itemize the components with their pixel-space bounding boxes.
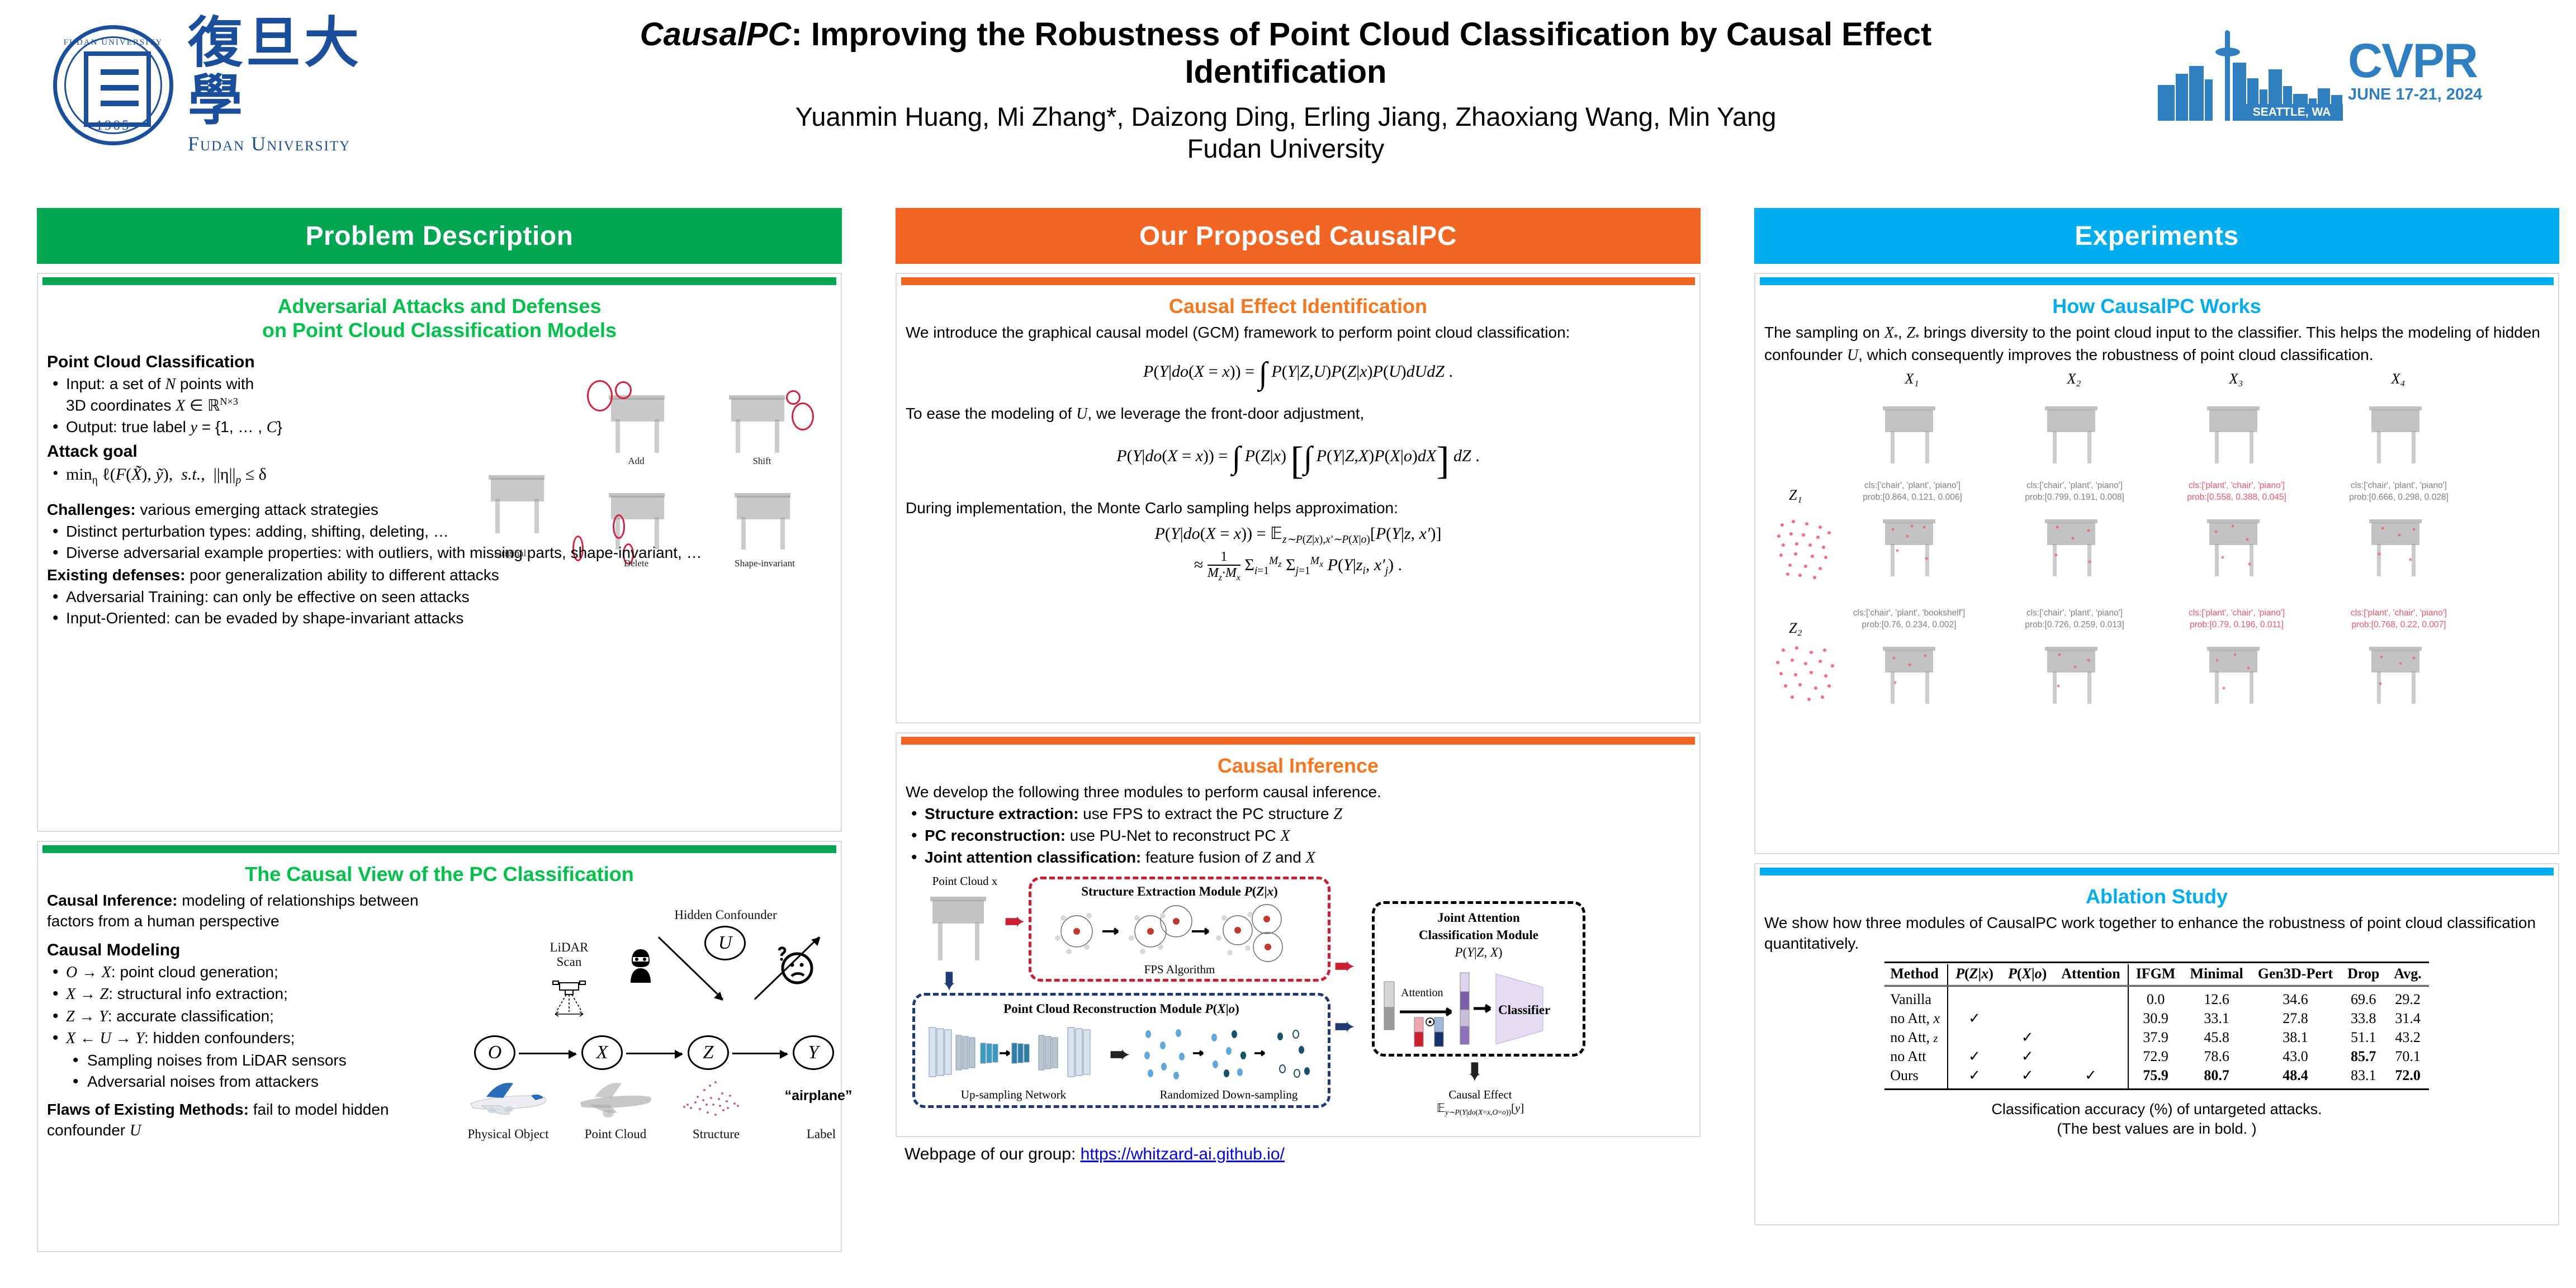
input-point-cloud-icon [917, 889, 1001, 967]
list-item: Z → Y: accurate classification; [47, 1006, 454, 1027]
group-webpage[interactable]: Webpage of our group: https://whitzard-a… [896, 1137, 1701, 1164]
graph-label-lidar-scan: LiDARScan [527, 940, 611, 969]
equation-3a: P(Y|do(X = x)) = 𝔼z∼P(Z|x),x′∼P(X|o)[P(Y… [897, 524, 1699, 546]
cei-paragraph-2: To ease the modeling of U, we leverage t… [897, 404, 1699, 424]
table-row: no Att, x ✓ 30.9 33.1 27.8 33.8 31.4 [1884, 1009, 2429, 1028]
cell-drop: 51.1 [2340, 1028, 2386, 1047]
highlight-ellipse [615, 381, 632, 399]
arrow-upsample-to-downsample: ➨ [1109, 1041, 1131, 1067]
table-row: Ours ✓ ✓ ✓ 75.9 80.7 48.4 83.1 72.0 [1884, 1066, 2429, 1090]
banner-problem-description: Problem Description [37, 208, 842, 264]
grid-pointcloud-r2c3 [2197, 510, 2275, 583]
cell-minimal: 12.6 [2182, 986, 2250, 1010]
grid-col-head-x2: X₂ [2040, 371, 2108, 387]
ablation-table: Method P(Z|x) P(X|o) Attention IFGM Mini… [1884, 962, 2429, 1092]
upsampling-network-label: Up-sampling Network [932, 1088, 1095, 1102]
airplane-structure-icon [671, 1071, 755, 1125]
cell-avg: 43.2 [2386, 1028, 2428, 1047]
prob-line: prob:[0.76, 0.234, 0.002] [1862, 620, 1957, 629]
fudan-seal-icon: FUDAN UNIVERSITY 1905 [53, 25, 173, 145]
panel-title-causal-view: The Causal View of the PC Classification [38, 853, 841, 891]
list-item: minη ℓ(F(X̃), ỹ), s.t., ||η||p ≤ δ [47, 463, 471, 487]
arrow-input-to-reconstruction: ➨ [937, 970, 963, 992]
table-row: no Att ✓ ✓ 72.9 78.6 43.0 85.7 70.1 [1884, 1047, 2429, 1066]
table-caption-line2: (The best values are in bold. ) [1755, 1119, 2558, 1139]
cell-attention [2054, 1047, 2128, 1066]
ci-module-list: Structure extraction: use FPS to extract… [906, 804, 1690, 869]
seal-year: 1905 [57, 118, 169, 134]
causal-inference-label: Causal Inference: [47, 892, 177, 909]
cell-attention [2054, 986, 2128, 1010]
causal-inference-para: Causal Inference: modeling of relationsh… [47, 891, 454, 931]
svg-text:Classifier: Classifier [1498, 1003, 1550, 1017]
grid-pointcloud-r3c2 [2035, 638, 2113, 711]
cell-method: Ours [1884, 1066, 1948, 1090]
list-item: Joint attention classification: feature … [906, 847, 1690, 868]
table-caption: Classification accuracy (%) of untargete… [1755, 1100, 2558, 1139]
panel-how-causalpc-works: How CausalPC Works The sampling on X*, Z… [1754, 273, 2559, 854]
graph-node-U: U [704, 926, 746, 960]
highlight-ellipse [587, 380, 613, 411]
jam-title-line1: Joint Attention [1437, 911, 1520, 925]
affiliation: Fudan University [587, 132, 1985, 165]
cls-line: cls:['plant', 'chair', 'piano'] [2189, 608, 2285, 618]
challenges-rest: various emerging attack strategies [136, 501, 378, 518]
prob-line: prob:[0.864, 0.121, 0.006] [1863, 493, 1962, 502]
ci-b2-label: PC reconstruction: [925, 827, 1066, 844]
col-head-minimal: Minimal [2182, 964, 2250, 986]
pcc-bullets: Input: a set of N points with3D coordina… [47, 374, 471, 438]
arrow-structure-to-classifier: ➨ [1334, 953, 1356, 978]
list-item: Sampling noises from LiDAR sensors [47, 1050, 454, 1071]
lidar-icon [550, 979, 589, 1024]
attacker-icon [625, 947, 656, 984]
figure-label-add: Add [591, 456, 681, 467]
col-head-pzx: P(Z|x) [1948, 964, 2001, 986]
cell-drop: 69.6 [2340, 986, 2386, 1010]
panel-rule [1760, 277, 2554, 285]
list-item: O → X: point cloud generation; [47, 962, 454, 983]
cell-gen3dpert: 38.1 [2251, 1028, 2340, 1047]
fudan-name-cn: 復旦大學 [188, 15, 400, 130]
cell-method: Vanilla [1884, 986, 1948, 1010]
grid-cell-r1c4-text: cls:['chair', 'plant', 'piano'] prob:[0.… [2329, 480, 2469, 504]
existing-defenses-rest: poor generalization ability to different… [185, 566, 499, 584]
existing-defenses-label: Existing defenses: [47, 566, 185, 584]
list-item: Adversarial Training: can only be effect… [47, 587, 832, 607]
cell-pxo: ✓ [2001, 1047, 2054, 1066]
randomized-downsampling-icon [1139, 1024, 1318, 1085]
graph-caption-structure: Structure [669, 1127, 764, 1142]
list-item: Output: true label y = {1, … , C} [47, 417, 471, 438]
cls-line: cls:['chair', 'plant', 'piano'] [2351, 481, 2447, 490]
poster-header: FUDAN UNIVERSITY 1905 復旦大學 Fudan Univers… [0, 0, 2576, 201]
cell-minimal: 33.1 [2182, 1009, 2250, 1028]
table-row: no Att, z ✓ 37.9 45.8 38.1 51.1 43.2 [1884, 1028, 2429, 1047]
highlight-ellipse [786, 390, 801, 405]
grid-cell-r2c4-text: cls:['plant', 'chair', 'piano'] prob:[0.… [2329, 608, 2469, 631]
cell-avg: 72.0 [2386, 1066, 2428, 1090]
cell-ifgm: 72.9 [2128, 1047, 2183, 1066]
ci-b1-label: Structure extraction: [925, 805, 1078, 822]
column-proposed-method: Our Proposed CausalPC Causal Effect Iden… [896, 208, 1701, 1164]
prob-line: prob:[0.79, 0.196, 0.011] [2190, 620, 2284, 629]
pcc-text-block: Point Cloud Classification Input: a set … [38, 351, 480, 487]
panel-rule [1760, 868, 2554, 875]
grid-structure-r3 [1767, 638, 1850, 711]
cvpr-wordmark: CVPR JUNE 17-21, 2024 [2348, 39, 2482, 104]
fudan-university-logo: FUDAN UNIVERSITY 1905 復旦大學 Fudan Univers… [53, 20, 400, 151]
panel-causal-inference: Causal Inference We develop the followin… [896, 732, 1701, 1137]
cell-pxo [2001, 1009, 2054, 1028]
cls-line: cls:['chair', 'plant', 'piano'] [2026, 481, 2123, 490]
panel-rule [901, 277, 1695, 285]
panel-title-causal-effect-id: Causal Effect Identification [897, 285, 1699, 323]
grid-cell-r2c1-text: cls:['chair', 'plant', 'bookshelf'] prob… [1839, 608, 1979, 631]
grid-cell-r1c3-text: cls:['plant', 'chair', 'piano'] prob:[0.… [2167, 480, 2307, 504]
fudan-name-en: Fudan University [188, 132, 400, 155]
heading-attack-goal: Attack goal [47, 441, 471, 462]
grid-pointcloud-r3c1 [1873, 638, 1951, 711]
hcw-paragraph: The sampling on X*, Z* brings diversity … [1755, 323, 2558, 366]
list-item: Structure extraction: use FPS to extract… [906, 804, 1690, 825]
causal-effect-equation: 𝔼y∼P(Y|do(X=x,O=o))[y] [1385, 1101, 1575, 1117]
jam-title-line2: Classification Module [1419, 928, 1538, 942]
prob-line: prob:[0.768, 0.22, 0.007] [2352, 620, 2446, 629]
upsampling-network-icon [927, 1022, 1100, 1083]
seal-arc-text: FUDAN UNIVERSITY [57, 38, 169, 48]
grid-row-head-z1: Z₁ [1789, 487, 1802, 504]
causal-modeling-bullets: O → X: point cloud generation; X → Z: st… [47, 962, 454, 1092]
cls-line: cls:['plant', 'chair', 'piano'] [2189, 481, 2285, 490]
col-head-method: Method [1884, 964, 1948, 986]
grid-pointcloud-r2c1 [1873, 510, 1951, 583]
grid-pointcloud-r3c4 [2359, 638, 2437, 711]
grid-pointcloud-r1c2 [2035, 397, 2113, 470]
graph-node-X: X [581, 1035, 623, 1070]
webpage-label: Webpage of our group: [905, 1145, 1081, 1163]
col-head-gen3dpert: Gen3D-Pert [2251, 964, 2340, 986]
seal-inner-glyph [84, 51, 151, 127]
attention-classifier-icon: Attention Classifier [1381, 970, 1579, 1049]
cell-attention [2054, 1028, 2128, 1047]
col-head-attention: Attention [2054, 964, 2128, 986]
grid-cell-r2c2-text: cls:['chair', 'plant', 'piano'] prob:[0.… [2005, 608, 2144, 631]
graph-edge-Z-to-Y [732, 1053, 787, 1054]
prob-line: prob:[0.666, 0.298, 0.028] [2349, 493, 2449, 502]
svg-text:Attention: Attention [1401, 987, 1443, 999]
ci-b3-label: Joint attention classification: [925, 849, 1141, 866]
grid-pointcloud-r3c3 [2197, 638, 2275, 711]
ablation-paragraph: We show how three modules of CausalPC wo… [1755, 913, 2558, 954]
banner-experiments: Experiments [1754, 208, 2559, 264]
cell-drop: 83.1 [2340, 1066, 2386, 1090]
grid-pointcloud-r2c4 [2359, 510, 2437, 583]
cell-gen3dpert: 27.8 [2251, 1009, 2340, 1028]
cell-avg: 31.4 [2386, 1009, 2428, 1028]
title-remainder: : Improving the Robustness of Point Clou… [791, 16, 1931, 90]
equation-3b: ≈ 1 Mz·Mx Σi=1Mz Σj=1Mx P(Y|zi, x′j) . [897, 550, 1699, 583]
confused-face-icon [776, 946, 815, 986]
banner-our-proposed-causalpc: Our Proposed CausalPC [896, 208, 1701, 264]
grid-pointcloud-r1c3 [2197, 397, 2275, 470]
panel-adversarial-attacks: Adversarial Attacks and Defenses on Poin… [37, 273, 842, 832]
col-head-avg: Avg. [2386, 964, 2428, 986]
cell-minimal: 80.7 [2182, 1066, 2250, 1090]
causal-graph-figure: Hidden Confounder U LiDARScan [463, 908, 843, 1187]
cell-ifgm: 30.9 [2128, 1009, 2183, 1028]
cell-drop: 33.8 [2340, 1009, 2386, 1028]
list-item: Diverse adversarial example properties: … [47, 543, 832, 563]
figure-label-shift: Shift [717, 456, 807, 467]
prob-line: prob:[0.799, 0.191, 0.008] [2025, 493, 2124, 502]
cei-paragraph-1: We introduce the graphical causal model … [897, 323, 1699, 343]
table-row: Vanilla 0.0 12.6 34.6 69.6 29.2 [1884, 986, 2429, 1010]
grid-cell-r1c1-text: cls:['chair', 'plant', 'piano'] prob:[0.… [1843, 480, 1982, 504]
graph-caption-physical-object: Physical Object [461, 1127, 556, 1142]
graph-label-airplane-value: “airplane” [774, 1088, 863, 1104]
challenges-label: Challenges: [47, 501, 136, 518]
grid-cell-r1c2-text: cls:['chair', 'plant', 'piano'] prob:[0.… [2005, 480, 2144, 504]
cell-pxo [2001, 986, 2054, 1010]
col-head-drop: Drop [2340, 964, 2386, 986]
attack-goal-bullets: minη ℓ(F(X̃), ỹ), s.t., ||η||p ≤ δ [47, 463, 471, 487]
cell-gen3dpert: 48.4 [2251, 1066, 2340, 1090]
fps-algorithm-icon [1044, 903, 1315, 965]
cell-method: no Att, z [1884, 1028, 1948, 1047]
graph-node-Z: Z [688, 1035, 729, 1070]
ci-bullets: Structure extraction: use FPS to extract… [897, 804, 1699, 869]
list-item: Adversarial noises from attackers [47, 1072, 454, 1092]
cell-pxo: ✓ [2001, 1028, 2054, 1047]
heading-point-cloud-classification: Point Cloud Classification [47, 351, 471, 373]
cell-method: no Att [1884, 1047, 1948, 1066]
flaws-heading: Flaws of Existing Methods: fail to model… [47, 1100, 454, 1141]
cls-line: cls:['chair', 'plant', 'piano'] [2026, 608, 2123, 618]
panel-title-ablation-study: Ablation Study [1755, 875, 2558, 913]
architecture-diagram: Point Cloud x ➨ ➨ Structure Extraction M… [905, 874, 1692, 1115]
title-emphasis: CausalPC [640, 16, 792, 53]
grid-cell-r2c3-text: cls:['plant', 'chair', 'piano'] prob:[0.… [2167, 608, 2307, 631]
list-item: X ← U → Y: hidden confounders; [47, 1028, 454, 1049]
cell-gen3dpert: 34.6 [2251, 986, 2340, 1010]
arrow-classifier-to-output: ➨ [1462, 1060, 1488, 1082]
cls-line: cls:['chair', 'plant', 'bookshelf'] [1853, 608, 1965, 618]
cvpr-name: CVPR [2348, 39, 2482, 83]
grid-pointcloud-r1c4 [2359, 397, 2437, 470]
cvpr-dates: JUNE 17-21, 2024 [2348, 86, 2482, 104]
col-head-ifgm: IFGM [2128, 964, 2183, 986]
list-item: Distinct perturbation types: adding, shi… [47, 522, 832, 542]
panel-ablation-study: Ablation Study We show how three modules… [1754, 863, 2559, 1225]
grid-pointcloud-r1c1 [1873, 397, 1951, 470]
cell-pzx [1948, 1028, 2001, 1047]
cell-ifgm: 75.9 [2128, 1066, 2183, 1090]
panel-causal-view: The Causal View of the PC Classification… [37, 841, 842, 1252]
ci-paragraph-1: We develop the following three modules t… [897, 782, 1699, 802]
webpage-link[interactable]: https://whitzard-ai.github.io/ [1081, 1145, 1285, 1163]
arrow-reconstruction-to-classifier: ➨ [1334, 1013, 1356, 1039]
panel-rule [901, 737, 1695, 745]
graph-edge-O-to-X [519, 1053, 576, 1054]
seattle-skyline-icon: SEATTLE, WA [2158, 48, 2342, 121]
title-block: CausalPC: Improving the Robustness of Po… [587, 16, 1985, 165]
cei-paragraph-3: During implementation, the Monte Carlo s… [897, 498, 1699, 518]
fudan-wordmark: 復旦大學 Fudan University [188, 15, 400, 156]
flaws-label: Flaws of Existing Methods: [47, 1101, 249, 1118]
airplane-pointcloud-icon [572, 1069, 656, 1125]
downsampling-label: Randomized Down-sampling [1145, 1088, 1313, 1102]
cell-pzx: ✓ [1948, 1066, 2001, 1090]
graph-caption-label: Label [774, 1127, 869, 1142]
cell-pzx: ✓ [1948, 1009, 2001, 1028]
column-experiments: Experiments How CausalPC Works The sampl… [1754, 208, 2559, 1225]
grid-structure-r2 [1767, 510, 1850, 586]
heading-causal-modeling: Causal Modeling [47, 939, 454, 961]
cell-drop: 85.7 [2340, 1047, 2386, 1066]
cell-attention: ✓ [2054, 1066, 2128, 1090]
graph-label-hidden-confounder: Hidden Confounder [653, 908, 798, 922]
cell-minimal: 78.6 [2182, 1047, 2250, 1066]
grid-col-head-x3: X₃ [2203, 371, 2270, 387]
panel-rule [42, 277, 836, 285]
panel-title-adversarial: Adversarial Attacks and Defenses on Poin… [38, 285, 841, 347]
graph-node-O: O [474, 1035, 515, 1070]
list-item: PC reconstruction: use PU-Net to reconst… [906, 826, 1690, 846]
list-item: X → Z: structural info extraction; [47, 984, 454, 1005]
panel-title-how-causalpc-works: How CausalPC Works [1755, 285, 2558, 323]
table-caption-line1: Classification accuracy (%) of untargete… [1755, 1100, 2558, 1119]
arch-input-label: Point Cloud x [909, 874, 1021, 888]
grid-pointcloud-r2c2 [2035, 510, 2113, 583]
column-problem-description: Problem Description Adversarial Attacks … [37, 208, 842, 1252]
prob-line: prob:[0.726, 0.259, 0.013] [2025, 620, 2124, 629]
graph-node-Y: Y [793, 1035, 834, 1070]
panel-title-line1: Adversarial Attacks and Defenses [46, 294, 833, 318]
cell-minimal: 45.8 [2182, 1028, 2250, 1047]
cell-gen3dpert: 43.0 [2251, 1047, 2340, 1066]
list-item: Input: a set of N points with3D coordina… [47, 374, 471, 416]
cell-method: no Att, x [1884, 1009, 1948, 1028]
grid-row-head-z2: Z₂ [1789, 620, 1802, 637]
prob-line: prob:[0.558, 0.388, 0.045] [2187, 493, 2286, 502]
joint-attention-title: Joint Attention Classification Module P(… [1377, 909, 1580, 961]
page-title: CausalPC: Improving the Robustness of Po… [587, 16, 1985, 91]
cls-line: cls:['chair', 'plant', 'piano'] [1864, 481, 1961, 490]
panel-causal-effect-identification: Causal Effect Identification We introduc… [896, 273, 1701, 723]
causal-view-text: Causal Inference: modeling of relationsh… [38, 891, 463, 1141]
cell-ifgm: 37.9 [2128, 1028, 2183, 1047]
fps-algorithm-label: FPS Algorithm [1118, 963, 1241, 977]
reconstruction-title: Point Cloud Reconstruction Module P(X|o) [918, 1002, 1325, 1016]
cvpr-city-label: SEATTLE, WA [2241, 104, 2343, 121]
cell-pxo: ✓ [2001, 1066, 2054, 1090]
cell-pzx [1948, 986, 2001, 1010]
cls-line: cls:['plant', 'chair', 'piano'] [2351, 608, 2447, 618]
highlight-ellipse [792, 402, 814, 430]
col-head-pxo: P(X|o) [2001, 964, 2054, 986]
cell-avg: 29.2 [2386, 986, 2428, 1010]
causal-effect-label: Causal Effect [1396, 1088, 1564, 1102]
panel-title-causal-inference: Causal Inference [897, 745, 1699, 782]
panel-title-line2: on Point Cloud Classification Models [46, 318, 833, 342]
list-item: Input-Oriented: can be evaded by shape-i… [47, 608, 832, 628]
cvpr-logo: SEATTLE, WA CVPR JUNE 17-21, 2024 [2158, 27, 2499, 133]
grid-col-head-x4: X₄ [2365, 371, 2432, 387]
structure-extraction-title: Structure Extraction Module P(Z|x) [1034, 884, 1325, 899]
cell-ifgm: 0.0 [2128, 986, 2183, 1010]
table-header-row: Method P(Z|x) P(X|o) Attention IFGM Mini… [1884, 964, 2429, 986]
airplane-object-icon [465, 1069, 549, 1125]
equation-2: P(Y|do(X = x)) = ∫ P(Z|x) [∫ P(Y|Z,X)P(X… [897, 439, 1699, 484]
cell-attention [2054, 1009, 2128, 1028]
graph-caption-point-cloud: Point Cloud [568, 1127, 663, 1142]
cell-avg: 70.1 [2386, 1047, 2428, 1066]
grid-col-head-x1: X₁ [1878, 371, 1945, 387]
graph-edge-X-to-Z [626, 1053, 682, 1054]
panel-rule [42, 845, 836, 853]
qualitative-results-grid: X₁ X₂ X₃ X₄ Z₁ Z₂ cls:['chair', 'plant',… [1761, 371, 2553, 706]
author-list: Yuanmin Huang, Mi Zhang*, Daizong Ding, … [587, 101, 1985, 132]
equation-1: P(Y|do(X = x)) = ∫ P(Y|Z,U)P(Z|x)P(U)dUd… [897, 356, 1699, 391]
arrow-input-to-structure: ➨ [1004, 908, 1026, 934]
cell-pzx: ✓ [1948, 1047, 2001, 1066]
